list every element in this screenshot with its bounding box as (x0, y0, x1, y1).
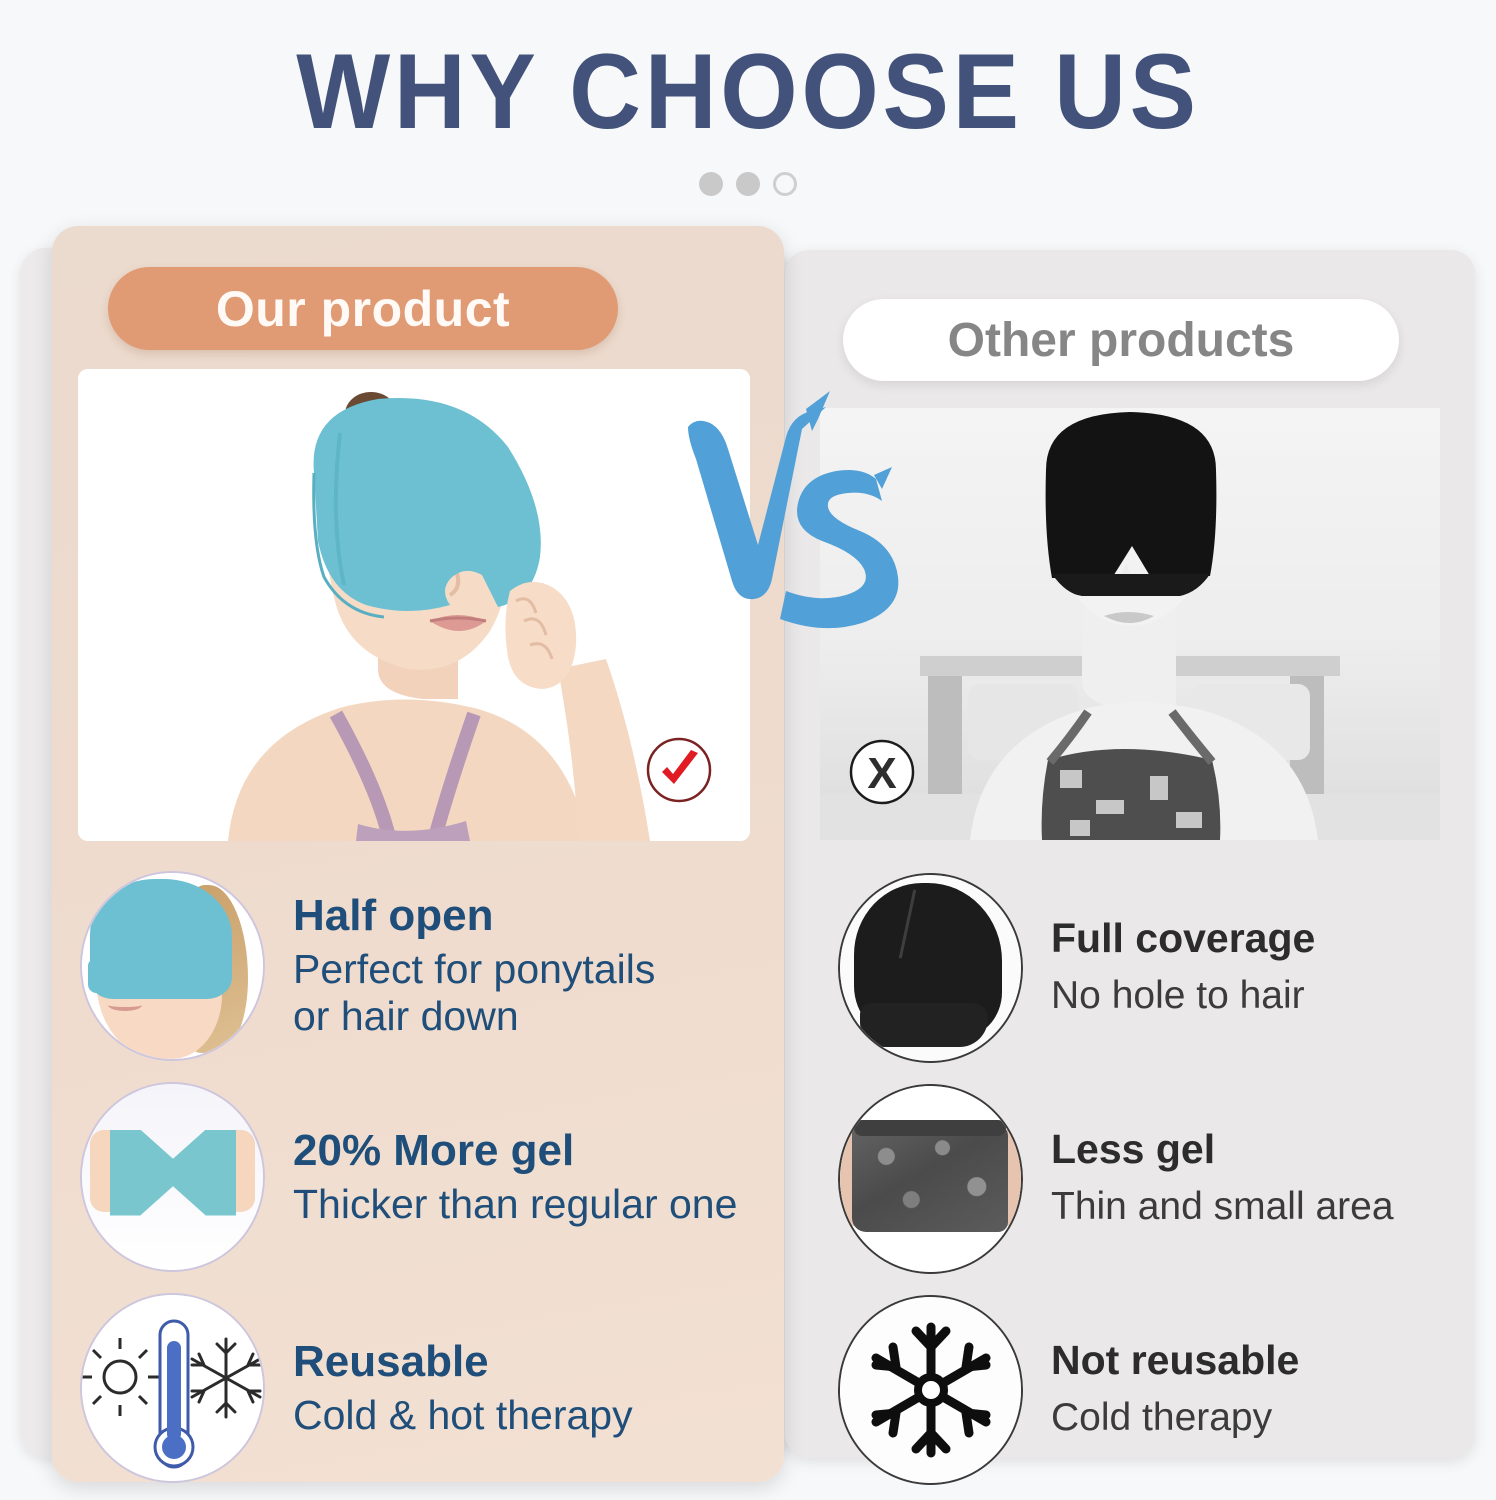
snowflake-icon (192, 1339, 260, 1417)
feature-text-full-coverage: Full coverage No hole to hair (1023, 916, 1315, 1018)
snowflake-icon (861, 1315, 1001, 1465)
x-icon: X (848, 738, 916, 806)
carousel-dot-3[interactable] (773, 172, 797, 196)
snowflake-illustration (840, 1297, 1021, 1483)
feature-title-more-gel: 20% More gel (293, 1126, 737, 1175)
page-title: WHY CHOOSE US (52, 38, 1443, 145)
side-profile-teal-cap-illustration (82, 873, 263, 1059)
feature-title-not-reusable: Not reusable (1051, 1338, 1299, 1384)
feature-row-less-gel: Less gel Thin and small area (838, 1073, 1438, 1284)
feature-row-reusable: Reusable Cold & hot therapy (80, 1282, 780, 1493)
feature-text-half-open: Half open Perfect for ponytails or hair … (265, 891, 655, 1040)
check-icon (645, 736, 713, 804)
vs-mark (676, 383, 908, 655)
other-products-feature-list: Full coverage No hole to hair Less gel T… (838, 862, 1438, 1495)
feature-subtitle-reusable: Cold & hot therapy (293, 1392, 633, 1439)
feature-thumb-half-open (80, 871, 265, 1061)
feature-text-less-gel: Less gel Thin and small area (1023, 1127, 1394, 1229)
feature-thumb-more-gel (80, 1082, 265, 1272)
carousel-dot-1[interactable] (699, 172, 723, 196)
feature-subtitle-half-open: Perfect for ponytails or hair down (293, 946, 655, 1039)
vs-brush-icon (676, 383, 908, 655)
other-products-pill-label: Other products (948, 313, 1295, 368)
feature-thumb-less-gel (838, 1084, 1023, 1274)
feature-subtitle-more-gel: Thicker than regular one (293, 1181, 737, 1228)
feature-subtitle-not-reusable: Cold therapy (1051, 1396, 1299, 1440)
feature-row-not-reusable: Not reusable Cold therapy (838, 1284, 1438, 1495)
feature-thumb-reusable (80, 1293, 265, 1483)
hands-stretching-gel-illustration (82, 1084, 263, 1270)
feature-thumb-full-coverage (838, 873, 1023, 1063)
check-mark-badge (645, 736, 713, 804)
sun-icon (82, 1338, 159, 1416)
thermometer-glyph (155, 1321, 193, 1467)
feature-subtitle-less-gel: Thin and small area (1051, 1185, 1394, 1229)
other-products-pill[interactable]: Other products (843, 299, 1399, 381)
carousel-dots (0, 172, 1496, 196)
thermometer-sun-snowflake-illustration (82, 1295, 263, 1481)
grey-gel-pack-illustration (840, 1086, 1021, 1272)
thermometer-icon (82, 1295, 265, 1483)
feature-thumb-not-reusable (838, 1295, 1023, 1485)
cross-mark-badge: X (848, 738, 916, 806)
feature-text-reusable: Reusable Cold & hot therapy (265, 1337, 633, 1439)
black-cap-illustration (840, 875, 1021, 1061)
feature-text-more-gel: 20% More gel Thicker than regular one (265, 1126, 737, 1228)
feature-title-reusable: Reusable (293, 1337, 633, 1386)
our-product-feature-list: Half open Perfect for ponytails or hair … (80, 860, 780, 1493)
feature-title-half-open: Half open (293, 891, 655, 940)
feature-title-full-coverage: Full coverage (1051, 916, 1315, 962)
feature-row-full-coverage: Full coverage No hole to hair (838, 862, 1438, 1073)
feature-row-more-gel: 20% More gel Thicker than regular one (80, 1071, 780, 1282)
svg-text:X: X (867, 749, 896, 798)
feature-title-less-gel: Less gel (1051, 1127, 1394, 1173)
our-product-pill[interactable]: Our product (108, 267, 618, 350)
carousel-dot-2[interactable] (736, 172, 760, 196)
header: WHY CHOOSE US (0, 0, 1496, 212)
feature-subtitle-full-coverage: No hole to hair (1051, 974, 1315, 1018)
our-product-pill-label: Our product (216, 280, 510, 338)
feature-row-half-open: Half open Perfect for ponytails or hair … (80, 860, 780, 1071)
feature-text-not-reusable: Not reusable Cold therapy (1023, 1338, 1299, 1440)
